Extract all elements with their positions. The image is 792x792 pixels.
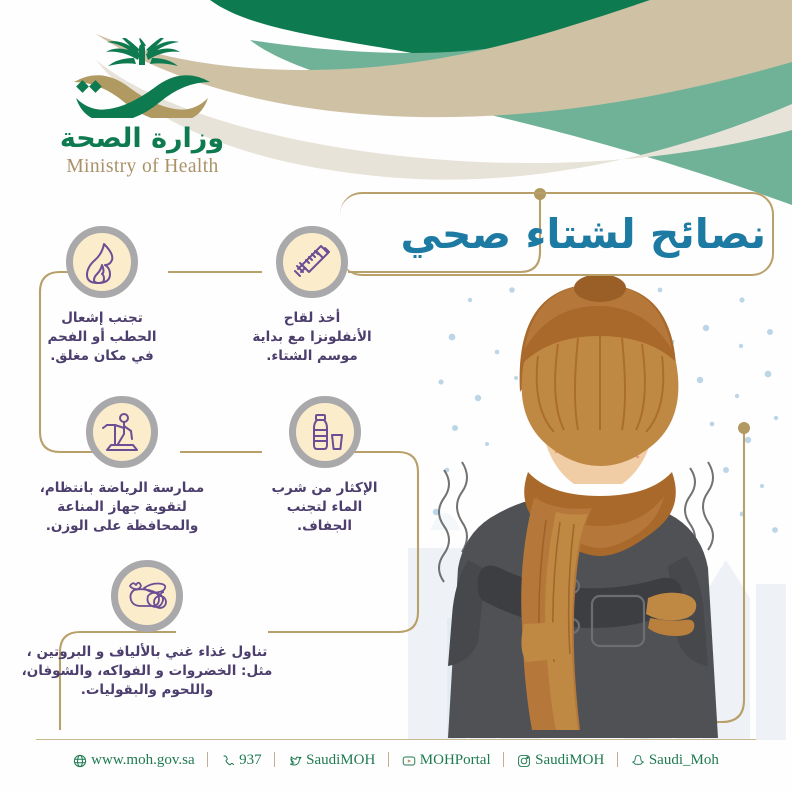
footer-instagram-label: SaudiMOH [535,752,604,769]
tip-flu-vaccine-text: أخذ لقاح الأنفلونزا مع بداية موسم الشتاء… [212,309,412,366]
instagram-icon [517,754,531,768]
tip-exercise[interactable]: ممارسة الرياضة بانتظام، لتقوية جهاز المن… [0,396,247,536]
footer-website-label: www.moh.gov.sa [91,752,194,769]
footer-separator [274,752,275,767]
tip-flu-vaccine[interactable]: أخذ لقاح الأنفلونزا مع بداية موسم الشتاء… [212,226,412,366]
tip-nutrition-text: تناول غذاء غني بالألياف و البروتين ، مثل… [0,643,312,700]
food-basket-icon [111,560,183,632]
ministry-name-english: Ministry of Health [40,156,245,178]
footer-separator [388,752,389,767]
footer-snapchat-label: Saudi_Moh [649,752,719,769]
footer-twitter[interactable]: SaudiMOH [288,752,375,769]
footer-snapchat[interactable]: Saudi_Moh [631,752,719,769]
footer-separator [617,752,618,767]
ministry-logo: وزارة الصحة Ministry of Health [40,38,245,178]
flame-icon [66,226,138,298]
twitter-icon [288,754,302,768]
footer-divider [36,739,756,740]
poster-canvas: وزارة الصحة Ministry of Health نصائح لشت… [0,0,792,792]
content-layer: وزارة الصحة Ministry of Health نصائح لشت… [0,0,792,792]
water-bottle-icon [289,396,361,468]
tip-exercise-text: ممارسة الرياضة بانتظام، لتقوية جهاز المن… [0,479,247,536]
footer-youtube-label: MOHPortal [420,752,491,769]
tip-nutrition[interactable]: تناول غذاء غني بالألياف و البروتين ، مثل… [0,560,312,700]
snapchat-icon [631,754,645,768]
tip-drink-water[interactable]: الإكثار من شرب الماء لتجنب الجفاف. [232,396,417,536]
tip-drink-water-text: الإكثار من شرب الماء لتجنب الجفاف. [232,479,417,536]
footer-phone-label: 937 [239,752,262,769]
treadmill-icon [86,396,158,468]
palm-tree-swords-logo-icon [60,38,225,118]
ministry-name-arabic: وزارة الصحة [40,120,245,154]
footer-instagram[interactable]: SaudiMOH [517,752,604,769]
youtube-icon [402,754,416,768]
footer-twitter-label: SaudiMOH [306,752,375,769]
footer-separator [207,752,208,767]
footer-contacts: www.moh.gov.sa 937 SaudiMOH [0,752,792,769]
tip-avoid-burning[interactable]: تجنب إشعال الحطب أو الفحم في مكان مغلق. [7,226,197,366]
svg-text:وزارة الصحة: وزارة الصحة [60,123,224,154]
footer-website[interactable]: www.moh.gov.sa [73,752,194,769]
tip-avoid-burning-text: تجنب إشعال الحطب أو الفحم في مكان مغلق. [7,309,197,366]
footer-phone[interactable]: 937 [221,752,262,769]
phone-icon [221,754,235,768]
syringe-icon [276,226,348,298]
globe-icon [73,754,87,768]
page-title: نصائح لشتاء صحي [400,196,766,272]
footer-separator [503,752,504,767]
footer-youtube[interactable]: MOHPortal [402,752,491,769]
